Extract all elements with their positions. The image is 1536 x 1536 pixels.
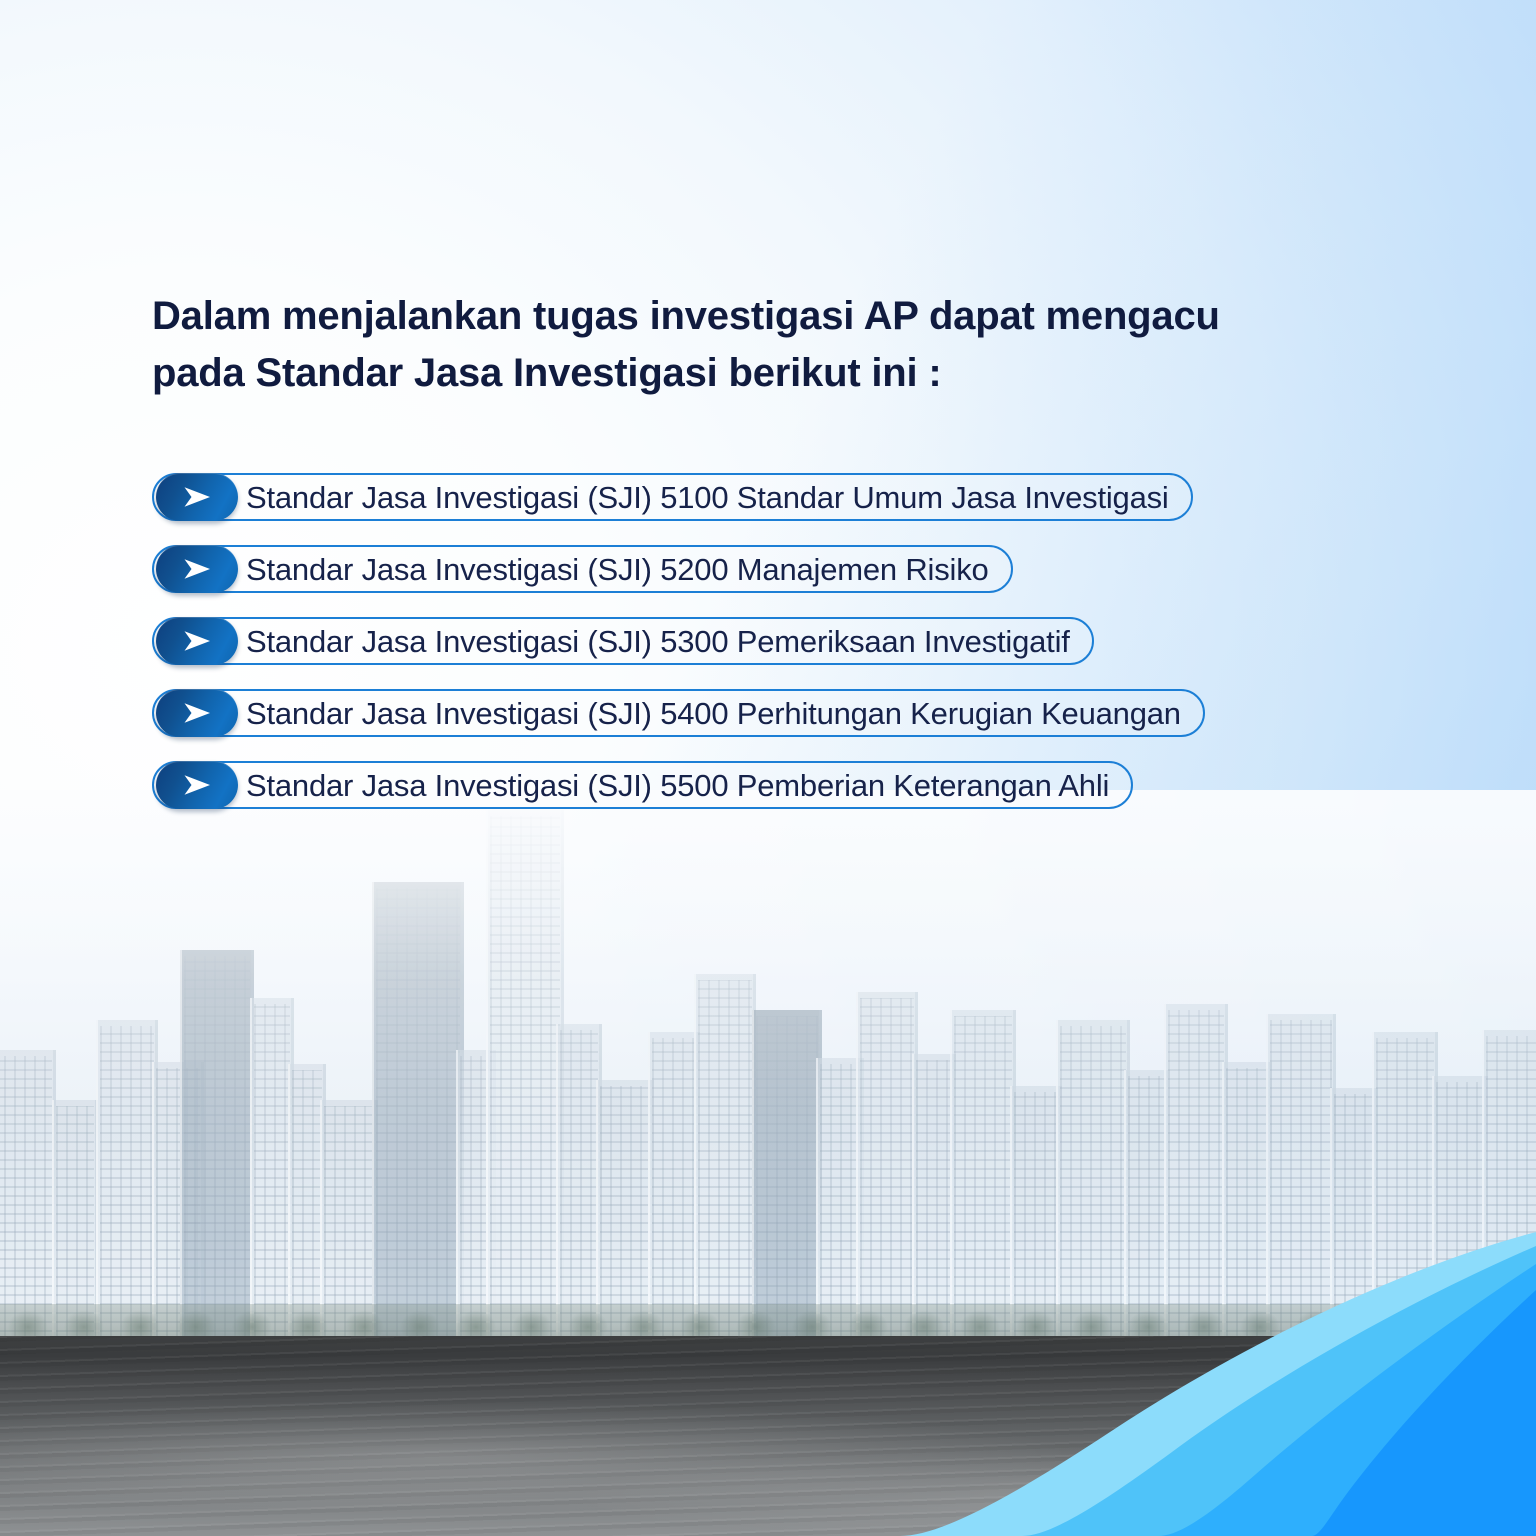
- list-item-label: Standar Jasa Investigasi (SJI) 5300 Peme…: [246, 626, 1070, 657]
- list-item-pill[interactable]: Standar Jasa Investigasi (SJI) 5100 Stan…: [152, 473, 1193, 521]
- arrow-right-icon: [156, 473, 238, 521]
- poster-content: Dalam menjalankan tugas investigasi AP d…: [0, 0, 1536, 1536]
- arrow-right-icon: [156, 545, 238, 593]
- list-item-pill[interactable]: Standar Jasa Investigasi (SJI) 5300 Peme…: [152, 617, 1094, 665]
- arrow-right-icon: [156, 617, 238, 665]
- list-item-label: Standar Jasa Investigasi (SJI) 5400 Perh…: [246, 698, 1181, 729]
- list-item-pill[interactable]: Standar Jasa Investigasi (SJI) 5200 Mana…: [152, 545, 1013, 593]
- poster-canvas: Dalam menjalankan tugas investigasi AP d…: [0, 0, 1536, 1536]
- list-item[interactable]: Standar Jasa Investigasi (SJI) 5300 Peme…: [152, 612, 1412, 670]
- list-item[interactable]: Standar Jasa Investigasi (SJI) 5400 Perh…: [152, 684, 1412, 742]
- list-item-pill[interactable]: Standar Jasa Investigasi (SJI) 5400 Perh…: [152, 689, 1205, 737]
- list-item[interactable]: Standar Jasa Investigasi (SJI) 5500 Pemb…: [152, 756, 1412, 814]
- arrow-right-icon: [156, 689, 238, 737]
- list-item[interactable]: Standar Jasa Investigasi (SJI) 5200 Mana…: [152, 540, 1412, 598]
- headline-line-1: Dalam menjalankan tugas investigasi AP d…: [152, 288, 1352, 345]
- list-item-pill[interactable]: Standar Jasa Investigasi (SJI) 5500 Pemb…: [152, 761, 1133, 809]
- standards-list: Standar Jasa Investigasi (SJI) 5100 Stan…: [152, 468, 1412, 828]
- list-item-label: Standar Jasa Investigasi (SJI) 5100 Stan…: [246, 482, 1169, 513]
- list-item-label: Standar Jasa Investigasi (SJI) 5200 Mana…: [246, 554, 989, 585]
- list-item-label: Standar Jasa Investigasi (SJI) 5500 Pemb…: [246, 770, 1109, 801]
- arrow-right-icon: [156, 761, 238, 809]
- headline-line-2: pada Standar Jasa Investigasi berikut in…: [152, 345, 1352, 402]
- page-title: Dalam menjalankan tugas investigasi AP d…: [152, 288, 1352, 402]
- list-item[interactable]: Standar Jasa Investigasi (SJI) 5100 Stan…: [152, 468, 1412, 526]
